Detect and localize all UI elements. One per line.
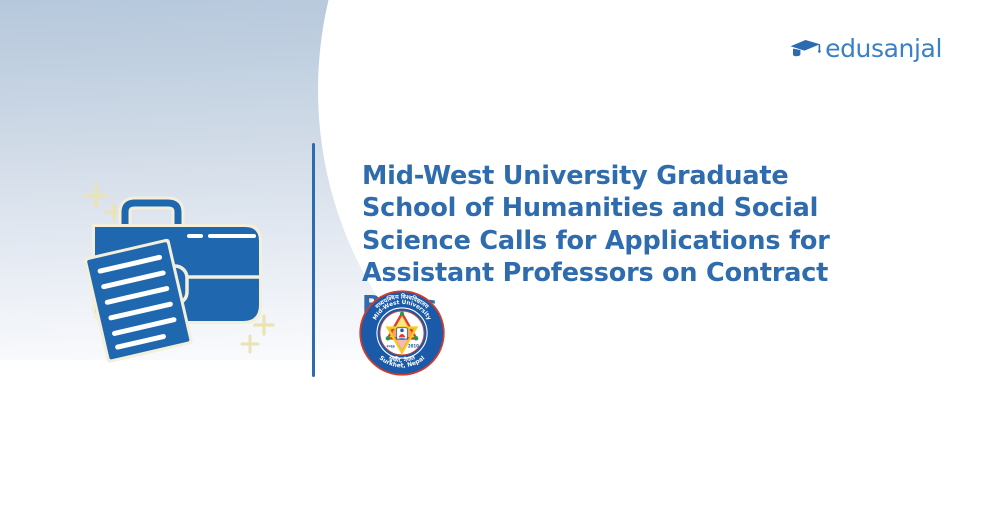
briefcase-handle <box>125 203 178 226</box>
graduation-cap-icon <box>789 38 822 60</box>
seal-year-right: 2010 <box>408 344 419 349</box>
seal-graphic: मध्यपश्चिम विश्वविद्यालय Mid-West Univer… <box>358 289 446 377</box>
vertical-accent-bar <box>312 143 315 377</box>
sparkle-icon <box>242 336 258 352</box>
briefcase-illustration <box>78 178 293 363</box>
seal-year-left: २०६७ <box>386 344 394 349</box>
briefcase-flap-dash-long <box>208 234 256 238</box>
brand-logo[interactable]: edusanjal <box>789 36 942 61</box>
university-seal: मध्यपश्चिम विश्वविद्यालय Mid-West Univer… <box>358 289 446 377</box>
sparkle-icon <box>86 186 106 206</box>
brand-name: edusanjal <box>825 36 942 61</box>
briefcase-flap-dash-short <box>187 234 203 238</box>
background-white-lower <box>0 360 420 523</box>
banner-canvas: edusanjal Mid-West University Graduate S… <box>0 0 1000 523</box>
